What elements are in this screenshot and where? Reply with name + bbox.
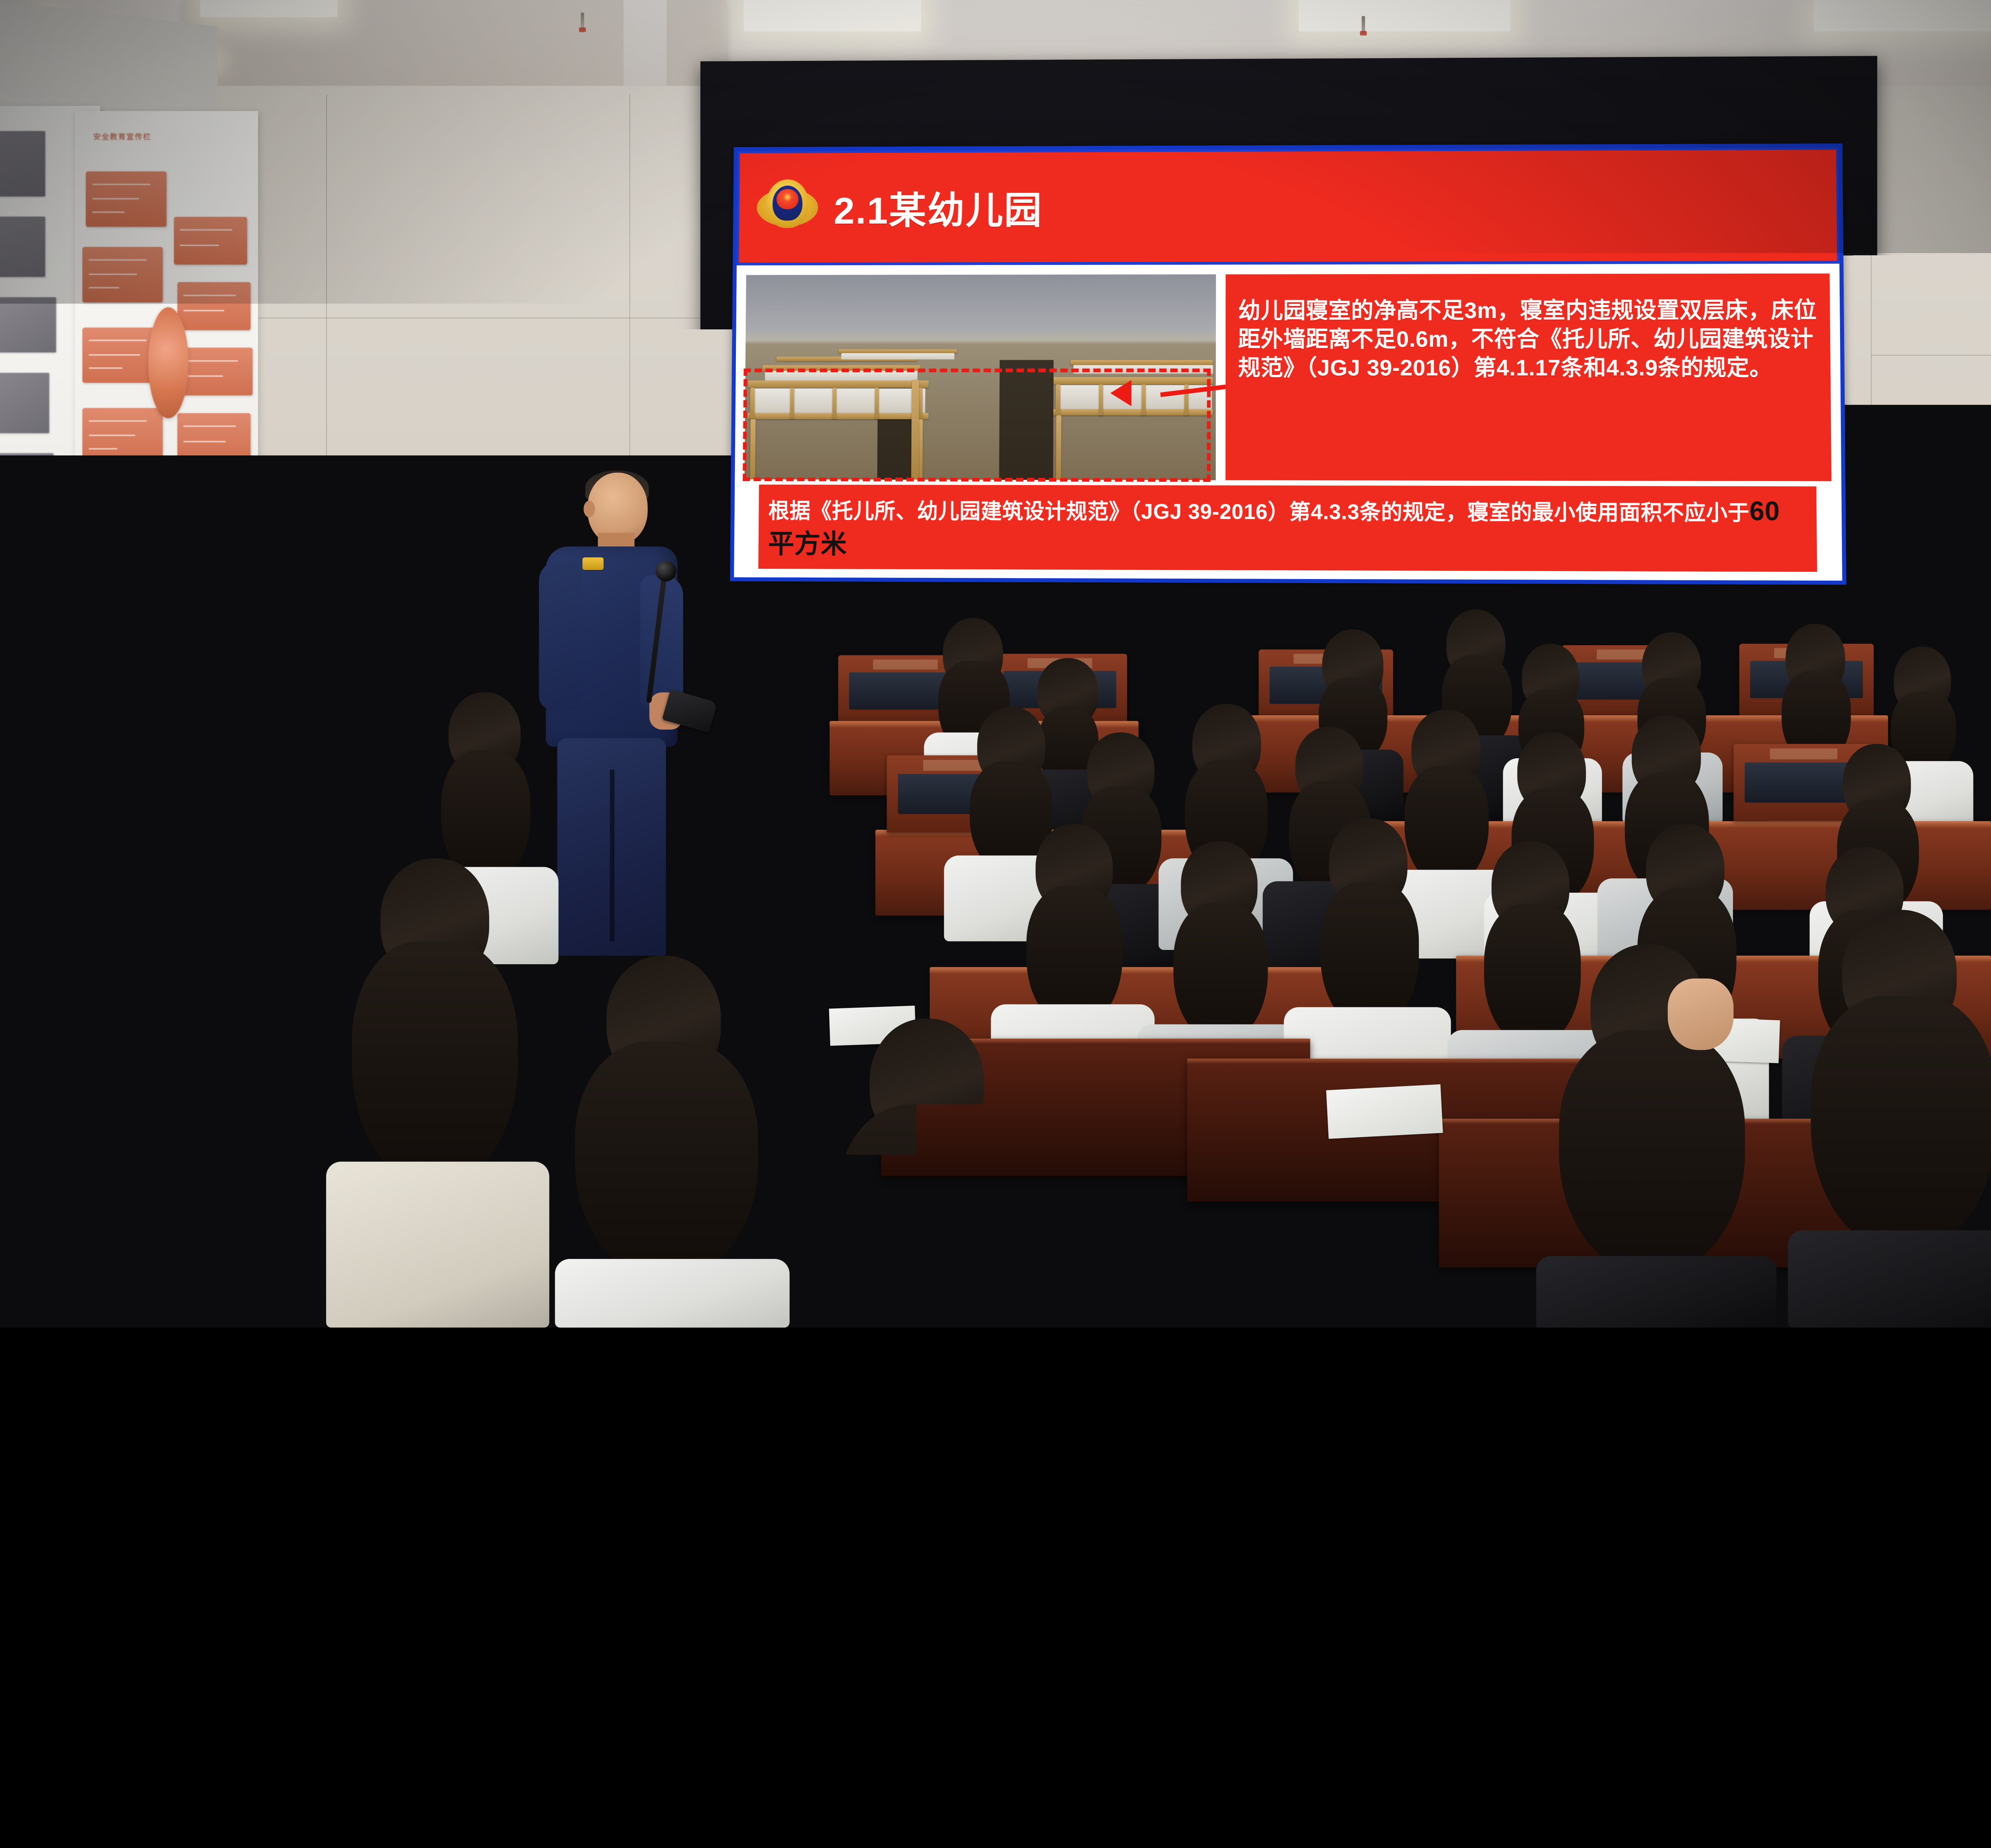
screenshot-canvas: 安全教育宣传栏 xyxy=(0,0,1991,1327)
ceiling-light-panel xyxy=(200,0,338,17)
speaker-leg-split xyxy=(610,769,614,941)
hand-resting-on-head xyxy=(1668,979,1733,1050)
sxrb-logo-icon xyxy=(1708,1204,1776,1290)
slide-callout-text: 幼儿园寝室的净高不足3m，寝室内违规设置双层床，床位距外墙距离不足0.6m，不符… xyxy=(1225,274,1831,482)
slide-canvas: 2.1某幼儿园 xyxy=(734,147,1842,581)
slide-photo-wrapper xyxy=(744,274,1216,480)
audience-member xyxy=(1093,967,1350,1327)
presentation-slide: 2.1某幼儿园 xyxy=(730,143,1846,585)
board-card xyxy=(82,247,163,302)
dormitory-photo xyxy=(744,274,1216,480)
speaker-left-arm xyxy=(539,561,582,710)
ceiling-light-panel xyxy=(1299,0,1510,31)
slide-title: 2.1某幼儿园 xyxy=(834,180,1043,235)
board-card xyxy=(174,217,247,264)
speaker-shoulder-insignia xyxy=(583,557,604,570)
board-card xyxy=(93,494,174,549)
board-photo xyxy=(0,217,45,277)
audience-member xyxy=(309,858,544,1327)
board-card xyxy=(82,408,163,464)
board-card xyxy=(178,413,251,461)
wall-seam xyxy=(1871,355,1991,356)
ceiling-light-panel xyxy=(1814,0,1991,31)
slide-bottom-banner: 根据《托儿所、幼儿园建筑设计规范》（JGJ 39-2016）第4.3.3条的规定… xyxy=(758,485,1817,572)
banner-text: 根据《托儿所、幼儿园建筑设计规范》（JGJ 39-2016）第4.3.3条的规定… xyxy=(768,499,1749,525)
slide-header: 2.1某幼儿园 xyxy=(737,147,1839,265)
fire-sprinkler-icon xyxy=(1362,16,1365,33)
wall-seam xyxy=(177,317,732,318)
watermark-site-name: 山西新闻网 xyxy=(1789,1208,1964,1254)
speaker-ear xyxy=(584,501,595,517)
board-photo xyxy=(0,297,56,352)
fire-rescue-badge-icon xyxy=(757,177,818,239)
board-card xyxy=(170,494,243,542)
board-title-text: 安全教育宣传栏 xyxy=(93,131,151,142)
watermark-url: www.sxrb.com xyxy=(1789,1258,1964,1287)
audience-member xyxy=(152,721,286,973)
board-center-emblem-icon xyxy=(148,307,188,418)
board-card xyxy=(179,348,252,395)
ceiling-beam xyxy=(624,0,667,86)
board-card xyxy=(178,282,251,330)
fire-sprinkler-icon xyxy=(581,13,584,30)
annotation-arrow-head xyxy=(1110,380,1131,406)
board-photo xyxy=(0,373,49,433)
audience-member xyxy=(790,1018,1047,1327)
watermark: 山西新闻网 www.sxrb.com xyxy=(1708,1204,1964,1290)
wall-display-board: 安全教育宣传栏 xyxy=(75,111,258,615)
watermark-text: 山西新闻网 www.sxrb.com xyxy=(1789,1208,1964,1287)
microphone-head-icon xyxy=(656,561,677,581)
board-card xyxy=(86,171,166,227)
projection-screen: 2.1某幼儿园 xyxy=(700,56,1877,686)
board-photo xyxy=(0,453,53,514)
board-photo xyxy=(0,131,45,196)
slide-body: 幼儿园寝室的净高不足3m，寝室内违规设置双层床，床位距外墙距离不足0.6m，不符… xyxy=(735,264,1841,481)
audience-member xyxy=(526,955,784,1327)
ceiling-light-panel xyxy=(744,0,921,31)
board-photo xyxy=(0,534,43,589)
